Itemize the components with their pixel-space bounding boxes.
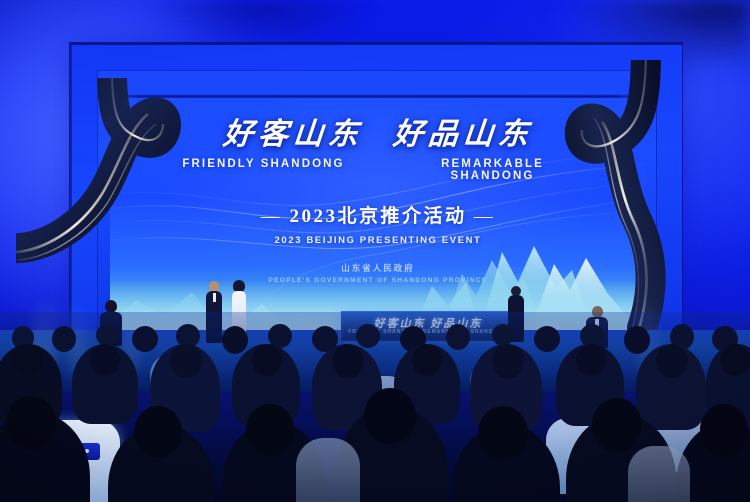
headline-left-cn: 好客山东 <box>222 120 365 150</box>
audience-head-front <box>246 404 294 456</box>
audience-head <box>656 344 688 378</box>
audience-head <box>90 344 120 376</box>
subtitle-chinese-text: 2023北京推介活动 <box>289 206 466 227</box>
audience-head <box>332 344 364 378</box>
audience-head-front <box>592 398 642 452</box>
audience-head <box>576 344 606 376</box>
audience-head <box>52 326 76 352</box>
audience-head <box>492 344 524 378</box>
host-male-shirt <box>213 293 216 302</box>
audience-head <box>534 326 560 352</box>
audience-head <box>492 324 514 346</box>
audience-head <box>132 326 158 352</box>
audience-area <box>0 312 750 502</box>
audience-head <box>252 344 282 376</box>
audience-head <box>624 326 650 354</box>
audience-head <box>446 324 470 350</box>
audience-head <box>222 326 248 354</box>
audience-head <box>720 344 750 376</box>
audience-head <box>412 344 442 376</box>
event-photo: 好客山东 好品山东 FRIENDLY SHANDONG REMARKABLE S… <box>0 0 750 502</box>
audience-head-front <box>364 388 416 444</box>
audience-member-light-shirt <box>296 438 360 502</box>
audience-head-front <box>6 396 56 450</box>
audience-member-light-shirt <box>628 446 690 502</box>
subtitle-dash-left: — <box>261 206 283 227</box>
audience-head-front <box>700 404 748 456</box>
audience-head <box>96 324 118 346</box>
audience-head-front <box>134 406 182 458</box>
ribbon-swoosh-left <box>16 78 206 328</box>
hall-shadow-top-left <box>150 0 370 46</box>
audience-head <box>170 344 202 378</box>
audience-head <box>12 344 42 376</box>
headline-right-cn: 好品山东 <box>392 120 535 150</box>
audience-head <box>356 324 380 348</box>
ribbon-swoosh-right <box>550 60 740 340</box>
subtitle-dash-right: — <box>474 206 496 227</box>
audience-head-front <box>478 406 528 460</box>
